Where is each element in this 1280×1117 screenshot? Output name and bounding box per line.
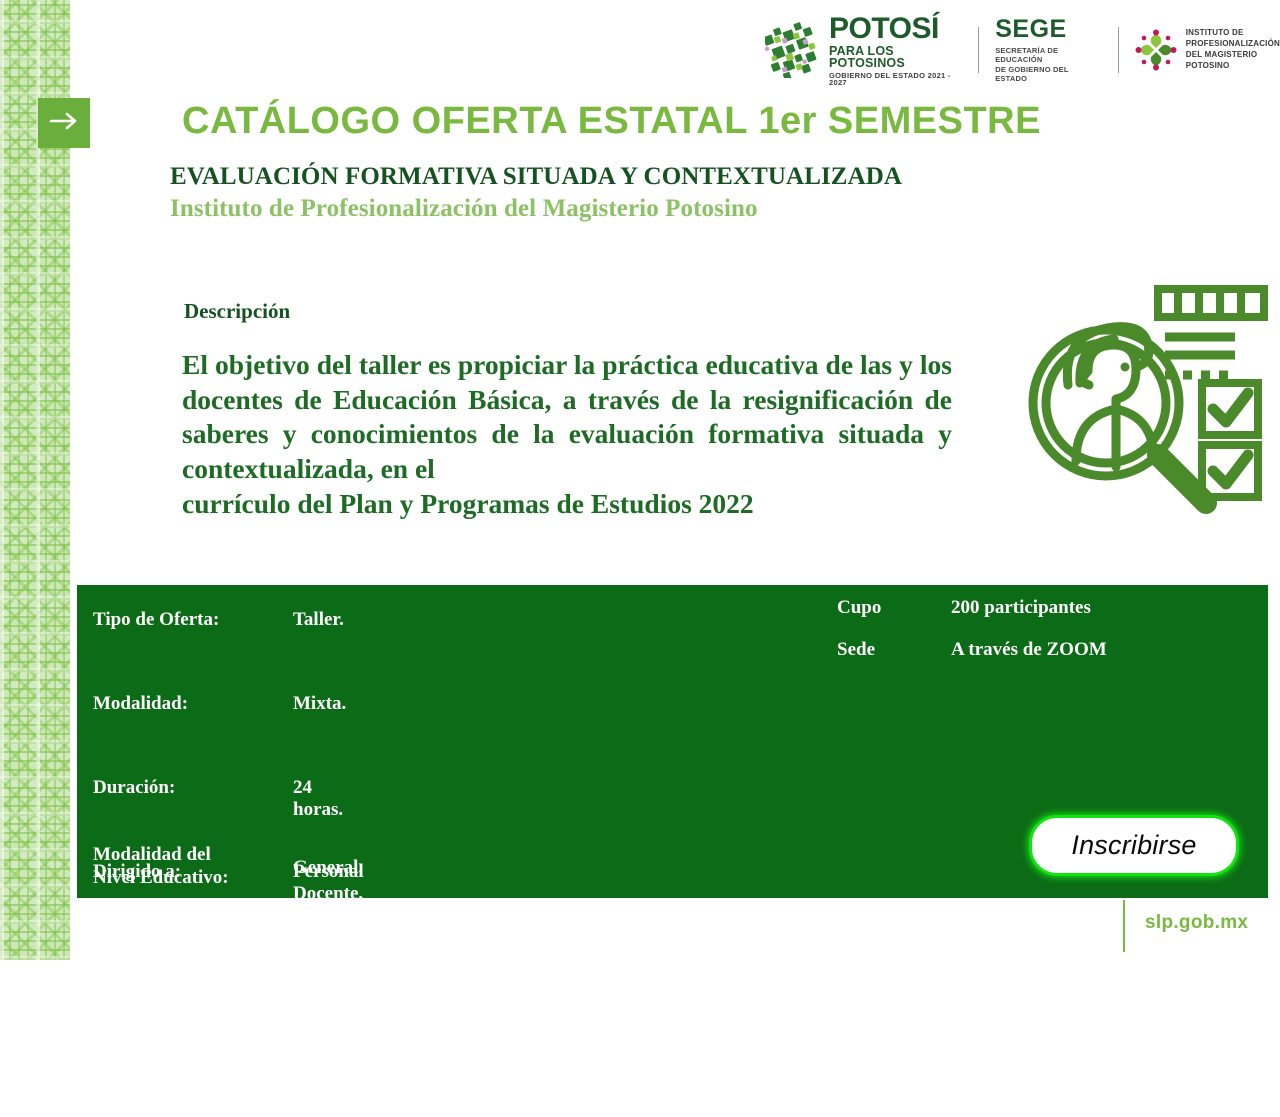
row-label-modalidad: Modalidad: [93,693,293,715]
potosi-emblem-icon [765,22,821,78]
arrow-right-icon [49,111,79,136]
row-value-modalidad-nivel-educativo: General. [293,857,363,879]
evaluation-illustration-icon [1010,275,1275,540]
potosi-logo: POTOSÍ PARA LOS POTOSINOS GOBIERNO DEL E… [765,14,962,87]
potosi-tagline: PARA LOS POTOSINOS [829,45,962,70]
sege-wordmark: SEGE [995,17,1102,42]
row-value-sede: A través de ZOOM [951,639,1107,661]
row-label-tipo-de-oferta: Tipo de Oferta: [93,609,293,631]
header-logo-bar: POTOSÍ PARA LOS POTOSINOS GOBIERNO DEL E… [765,16,1280,84]
sege-subtitle-line1: SECRETARÍA DE EDUCACIÓN [995,46,1102,65]
row-value-tipo-de-servicio: Educación Especial, Multigrado y Telesec… [293,1029,420,1117]
ipmp-line-2: PROFESIONALIZACIÓN [1186,39,1280,50]
row-label-modalidad-nivel-educativo-line2: Nivel Educativo: [93,866,229,889]
footer-website-url: slp.gob.mx [1145,912,1248,934]
arrow-badge [38,98,90,148]
row-label-duracion: Duración: [93,777,293,799]
row-label-modalidad-nivel-educativo: Modalidad del Nivel Educativo: [93,843,229,889]
row-label-nivel-educativo: Nivel Educativo: [93,945,293,967]
ipmp-logo-text: INSTITUTO DE PROFESIONALIZACIÓN DEL MAGI… [1186,28,1280,71]
row-value-modalidad: Mixta. [293,693,346,715]
description-last-line: currículo del Plan y Programas de Estudi… [182,487,952,522]
row-value-cupo: 200 participantes [951,597,1091,619]
ipmp-line-3: DEL MAGISTERIO [1186,50,1280,61]
page-title: CATÁLOGO OFERTA ESTATAL 1er SEMESTRE [182,100,1041,143]
sege-logo: SEGE SECRETARÍA DE EDUCACIÓN DE GOBIERNO… [995,17,1102,84]
potosi-government-line: GOBIERNO DEL ESTADO 2021 - 2027 [829,72,962,87]
description-text: El objetivo del taller es propiciar la p… [182,348,952,521]
ipmp-emblem-icon [1135,29,1177,71]
ipmp-line-4: POTOSINO [1186,61,1280,72]
potosi-logo-text: POTOSÍ PARA LOS POTOSINOS GOBIERNO DEL E… [829,14,962,87]
potosi-wordmark: POTOSÍ [829,14,962,44]
row-label-cupo: Cupo [837,597,947,619]
ipmp-line-1: INSTITUTO DE [1186,28,1280,39]
description-label: Descripción [184,299,290,324]
enroll-button-label: Inscribirse [1071,830,1196,861]
ipmp-logo: INSTITUTO DE PROFESIONALIZACIÓN DEL MAGI… [1135,28,1280,71]
logo-divider-1 [978,27,979,73]
row-label-sede: Sede [837,639,947,661]
enroll-button[interactable]: Inscribirse [1029,815,1239,876]
course-title: EVALUACIÓN FORMATIVA SITUADA Y CONTEXTUA… [170,163,902,191]
sege-subtitle-line2: DE GOBIERNO DEL ESTADO [995,65,1102,84]
institute-name: Instituto de Profesionalización del Magi… [170,195,758,223]
row-value-duracion: 24 horas. [293,777,343,821]
description-paragraph: El objetivo del taller es propiciar la p… [182,349,952,484]
row-value-tipo-de-oferta: Taller. [293,609,344,631]
row-label-tipo-de-servicio: Tipo de Servicio: [93,1029,293,1051]
footer-divider [1123,900,1125,952]
row-label-modalidad-nivel-educativo-line1: Modalidad del [93,843,229,866]
logo-divider-2 [1118,27,1119,73]
